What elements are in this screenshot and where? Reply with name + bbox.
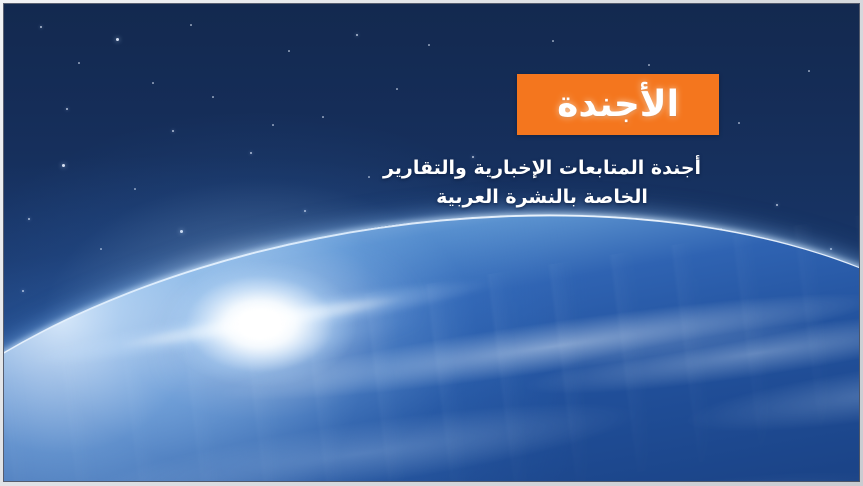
background-photo: الأجندة أجندة المتابعات الإخبارية والتقا…: [4, 4, 859, 481]
subtitle-line-1: أجندة المتابعات الإخبارية والتقارير: [365, 154, 719, 183]
subtitle-line-2: الخاصة بالنشرة العربية: [365, 183, 719, 212]
subtitle: أجندة المتابعات الإخبارية والتقارير الخا…: [359, 154, 719, 212]
agenda-banner: الأجندة أجندة المتابعات الإخبارية والتقا…: [0, 0, 863, 486]
title-badge: الأجندة: [517, 74, 719, 135]
text-block: الأجندة أجندة المتابعات الإخبارية والتقا…: [359, 74, 719, 212]
